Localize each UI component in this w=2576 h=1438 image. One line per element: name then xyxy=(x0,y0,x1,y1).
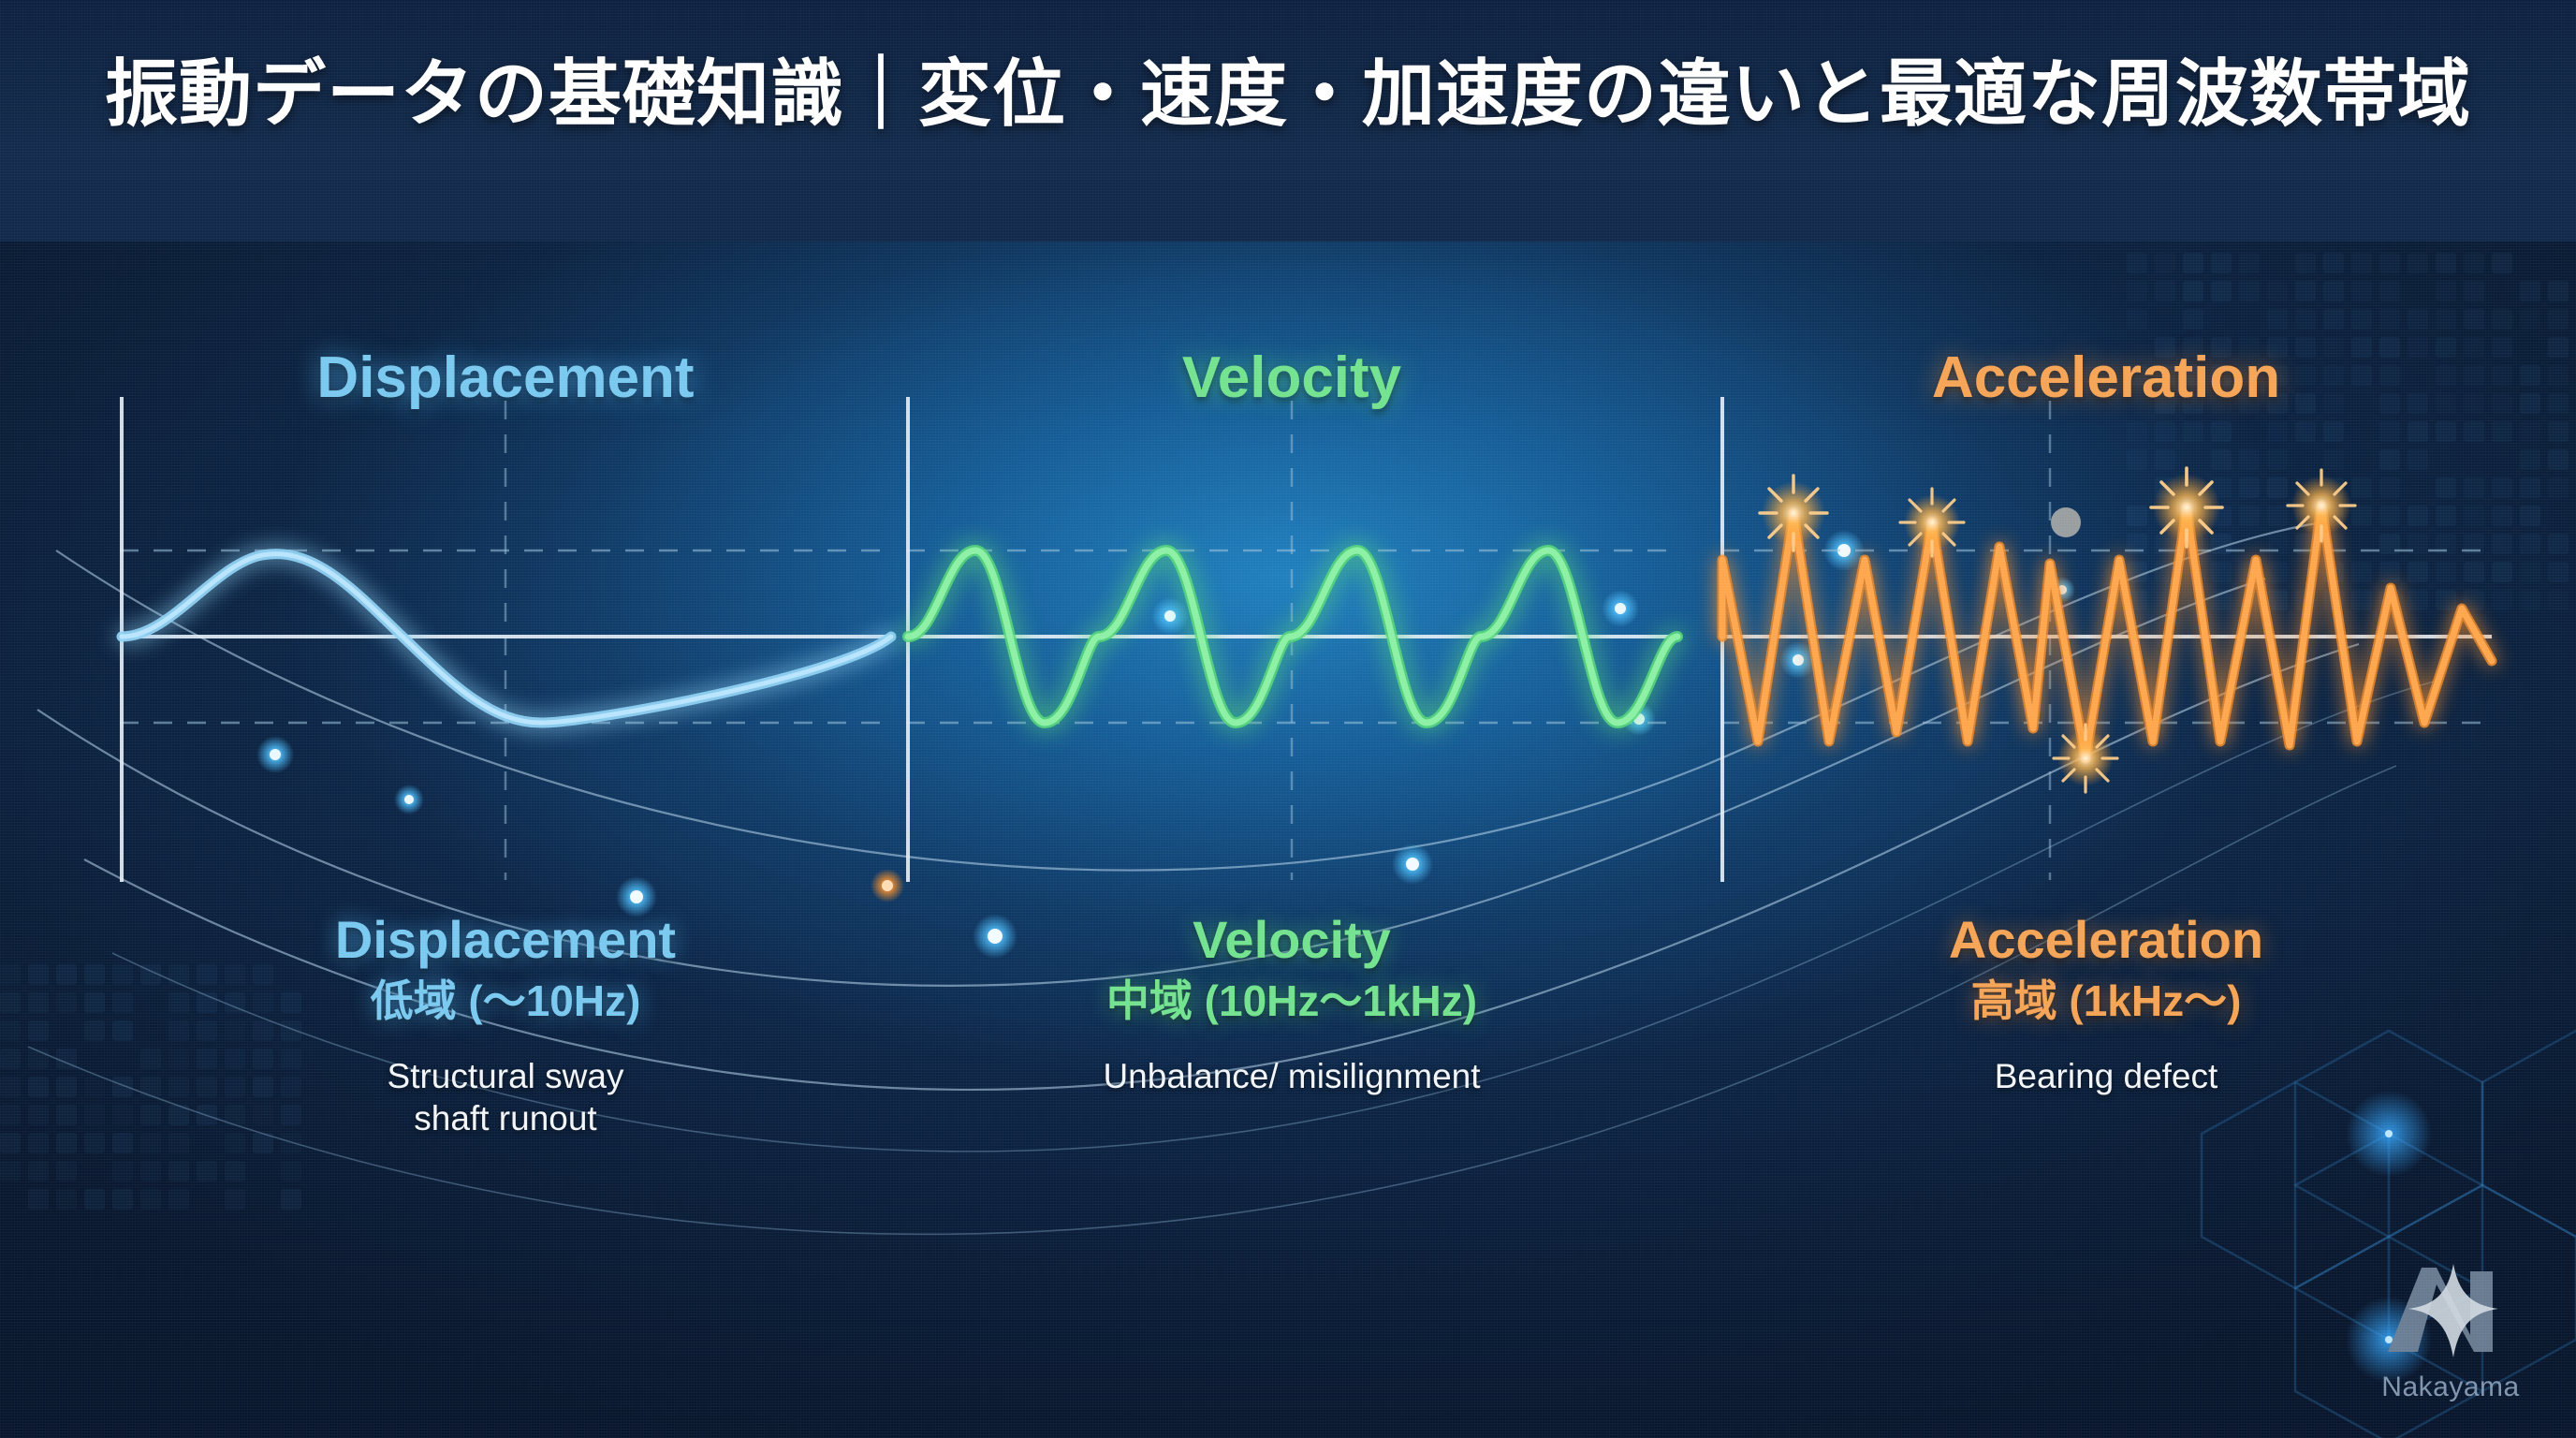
infographic-canvas: 振動データの基礎知識｜変位・速度・加速度の違いと最適な周波数帯域 xyxy=(0,0,2576,1438)
column-header-acceleration: Acceleration xyxy=(1713,345,2499,411)
spark-burst-icon xyxy=(1900,489,1964,556)
footer-note-line: Bearing defect xyxy=(1713,1055,2499,1097)
page-title: 振動データの基礎知識｜変位・速度・加速度の違いと最適な周波数帯域 xyxy=(0,36,2576,140)
footer-note-line: Unbalance/ misilignment xyxy=(899,1055,1685,1097)
column-displacement: Displacement xyxy=(112,242,899,1438)
footer-title-velocity: Velocity xyxy=(899,912,1685,968)
footer-note-displacement: Structural sway shaft runout xyxy=(112,1055,899,1139)
footer-note-line: Structural sway xyxy=(112,1055,899,1097)
spark-burst-icon xyxy=(2054,725,2117,792)
column-footer-velocity: Velocity 中域 (10Hz〜1kHz) Unbalance/ misil… xyxy=(899,912,1685,1097)
spark-burst-icon xyxy=(2151,468,2222,547)
brand-logo: Nakayama xyxy=(2366,1255,2535,1414)
columns-container: Displacement xyxy=(0,242,2576,1438)
chart-velocity xyxy=(899,477,1685,814)
column-velocity: Velocity xyxy=(899,242,1685,1438)
footer-title-displacement: Displacement xyxy=(112,912,899,968)
column-footer-acceleration: Acceleration 高域 (1kHz〜) Bearing defect xyxy=(1713,912,2499,1097)
footer-band-acceleration: 高域 (1kHz〜) xyxy=(1713,972,2499,1030)
brand-name: Nakayama xyxy=(2366,1372,2535,1403)
footer-note-acceleration: Bearing defect xyxy=(1713,1055,2499,1097)
footer-note-velocity: Unbalance/ misilignment xyxy=(899,1055,1685,1097)
footer-band-displacement: 低域 (〜10Hz) xyxy=(112,972,899,1030)
spark-burst-icon xyxy=(2288,470,2355,541)
footer-note-line: shaft runout xyxy=(112,1097,899,1139)
footer-title-acceleration: Acceleration xyxy=(1713,912,2499,968)
footer-band-velocity: 中域 (10Hz〜1kHz) xyxy=(899,972,1685,1030)
spark-burst-icon xyxy=(1760,476,1827,550)
chart-displacement xyxy=(112,477,899,814)
chart-acceleration xyxy=(1713,477,2499,814)
column-footer-displacement: Displacement 低域 (〜10Hz) Structural sway … xyxy=(112,912,899,1139)
nakayama-n-star-logo-icon xyxy=(2380,1255,2521,1365)
